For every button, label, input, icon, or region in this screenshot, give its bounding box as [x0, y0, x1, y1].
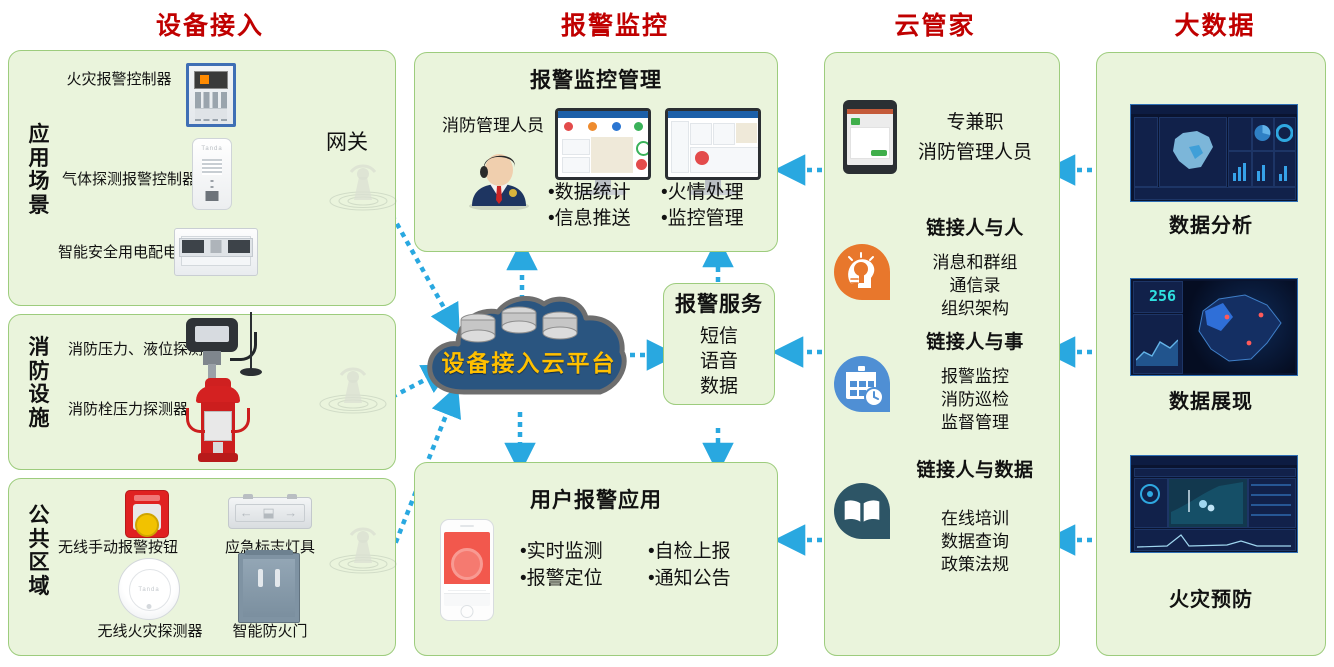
cloud-steward-section-title-2: 链接人与数据 [880, 460, 1070, 483]
alarm-monitoring-title: 报警监控管理 [414, 68, 778, 93]
android-chat-phone-icon [843, 100, 897, 174]
device-label-manual-call-point: 无线手动报警按钮 [58, 538, 238, 557]
dashboard-prevention-icon [1130, 455, 1298, 553]
cloud-steward-item-0-0: 消息和群组 [900, 252, 1050, 275]
user-app-bullet-label-2: 自检上报 [655, 541, 731, 562]
smart-fire-door-icon [238, 553, 300, 623]
device-label-smart-distribution-box: 智能安全用电配电箱 [58, 243, 173, 262]
cloud-steward-role-line2: 消防管理人员 [895, 140, 1055, 165]
fire-manager-avatar [466, 148, 532, 210]
cloud-steward-item-2-0: 在线培训 [900, 508, 1050, 531]
cloud-steward-section-title-0: 链接人与人 [890, 218, 1060, 241]
cloud-steward-item-0-1: 通信录 [900, 275, 1050, 298]
cloud-steward-item-1-0: 报警监控 [900, 366, 1050, 389]
hydrant-pressure-detector-icon [184, 378, 252, 462]
user-app-bullet-label-3: 通知公告 [655, 568, 731, 589]
big-data-card-label-1: 数据展现 [1096, 390, 1326, 414]
cloud-steward-item-2-2: 政策法规 [900, 554, 1050, 577]
diagram-canvas: 设备接入 报警监控 云管家 大数据 [0, 0, 1334, 667]
column-title-cloud-steward: 云管家 [845, 6, 1025, 42]
cloud-steward-item-0-2: 组织架构 [900, 298, 1050, 321]
big-data-kpi-value: 256 [1149, 287, 1176, 305]
cloud-platform: 设备接入云平台 [424, 292, 634, 400]
manual-call-point-icon [125, 490, 169, 538]
group-label-application-scene: 应用场景 [24, 123, 54, 217]
alarm-monitoring-bullet-1: •信息推送 [548, 206, 631, 231]
user-app-bullet-1: •报警定位 [520, 566, 603, 591]
open-book-icon [834, 483, 890, 539]
alarm-service-item-1: 语音 [663, 349, 775, 374]
user-app-bullet-label-1: 报警定位 [527, 568, 603, 589]
cloud-steward-item-2-1: 数据查询 [900, 531, 1050, 554]
group-label-public-area: 公共区域 [24, 504, 54, 598]
cloud-steward-item-1-1: 消防巡检 [900, 389, 1050, 412]
alarm-monitoring-bullet-label-0: 数据统计 [555, 182, 631, 203]
group-label-fire-facility: 消防设施 [24, 336, 54, 430]
device-label-hydrant-pressure-detector: 消防栓压力探测器 [68, 400, 178, 419]
alarm-service-item-2: 数据 [663, 374, 775, 399]
column-title-device-access: 设备接入 [100, 6, 320, 42]
gateway-tower-icon-3 [326, 518, 400, 576]
device-label-wireless-smoke-detector: 无线火灾探测器 [70, 622, 230, 641]
gateway-tower-icon [326, 155, 400, 213]
device-label-gas-detector: 气体探测报警控制器 [62, 170, 177, 189]
alarm-monitoring-bullet-label-2: 火情处理 [668, 182, 744, 203]
gas-detector-icon: Tanda [192, 138, 232, 210]
alarm-service-title: 报警服务 [663, 292, 775, 317]
device-label-pressure-level-detector: 消防压力、液位探测器 [68, 340, 178, 359]
fire-alarm-controller-icon [186, 63, 236, 127]
device-label-fire-alarm-controller: 火灾报警控制器 [64, 70, 174, 89]
gateway-label: 网关 [326, 130, 368, 155]
alarm-monitoring-bullet-label-1: 信息推送 [555, 208, 631, 229]
column-title-alarm-monitor: 报警监控 [505, 6, 725, 42]
alarm-service-item-0: 短信 [663, 324, 775, 349]
big-data-card-label-0: 数据分析 [1096, 214, 1326, 238]
cloud-steward-role-line1: 专兼职 [905, 110, 1045, 135]
dashboard-map-analytics-icon [1130, 104, 1298, 202]
user-app-bullet-2: •自检上报 [648, 539, 731, 564]
user-alarm-app-title: 用户报警应用 [414, 488, 778, 513]
cloud-steward-item-1-2: 监督管理 [900, 412, 1050, 435]
emergency-exit-sign-icon: ← ⬓ → [228, 497, 312, 529]
device-label-smart-fire-door: 智能防火门 [222, 622, 318, 641]
big-data-card-label-2: 火灾预防 [1096, 588, 1326, 612]
head-idea-icon [834, 244, 890, 300]
alarm-monitoring-person-label: 消防管理人员 [428, 115, 558, 138]
user-app-bullet-label-0: 实时监测 [527, 541, 603, 562]
wireless-smoke-detector-icon: Tanda [118, 558, 180, 620]
user-app-bullet-0: •实时监测 [520, 539, 603, 564]
cloud-steward-section-title-1: 链接人与事 [890, 332, 1060, 355]
smart-distribution-box-icon [174, 228, 258, 276]
iphone-alarm-app-icon [440, 519, 494, 621]
alarm-monitoring-bullet-0: •数据统计 [548, 180, 631, 205]
calendar-clock-icon [834, 356, 890, 412]
alarm-monitoring-bullet-label-3: 监控管理 [668, 208, 744, 229]
gateway-tower-icon-2 [316, 358, 390, 416]
alarm-monitoring-bullet-2: •火情处理 [661, 180, 744, 205]
cloud-platform-label: 设备接入云平台 [424, 344, 634, 378]
column-title-big-data: 大数据 [1125, 6, 1305, 42]
user-app-bullet-3: •通知公告 [648, 566, 731, 591]
alarm-monitoring-bullet-3: •监控管理 [661, 206, 744, 231]
dashboard-dark-map-icon: 256 [1130, 278, 1298, 376]
